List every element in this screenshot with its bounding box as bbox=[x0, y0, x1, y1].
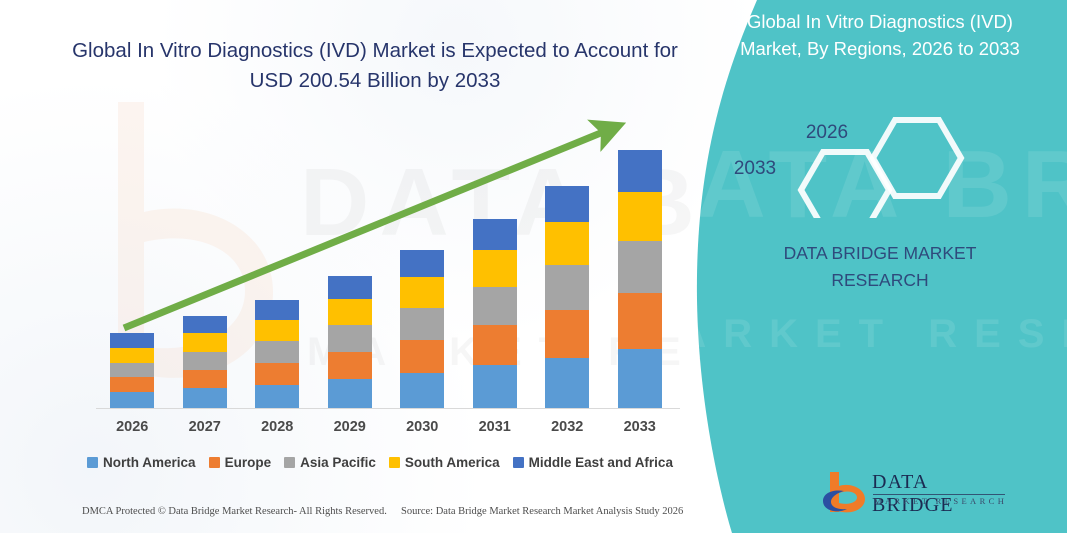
bar-segment-north-america[interactable] bbox=[328, 379, 372, 408]
bar-segment-north-america[interactable] bbox=[545, 358, 589, 408]
hexagon-pair-icon bbox=[785, 98, 1005, 218]
bar-segment-south-america[interactable] bbox=[110, 348, 154, 363]
bar-segment-south-america[interactable] bbox=[473, 250, 517, 287]
legend-label: Asia Pacific bbox=[300, 455, 376, 470]
legend-item-asia-pacific[interactable]: Asia Pacific bbox=[284, 455, 376, 470]
bar-column-2032[interactable] bbox=[545, 185, 589, 408]
x-axis-label-2030: 2030 bbox=[387, 419, 457, 435]
bar-column-2028[interactable] bbox=[255, 300, 299, 408]
panel-watermark-secondary: MARKET RESEARCH bbox=[687, 312, 1067, 357]
logo-tagline: MARKET RESEARCH bbox=[874, 496, 1007, 506]
bar-segment-middle-east-and-africa[interactable] bbox=[255, 300, 299, 320]
legend-swatch-icon bbox=[284, 457, 295, 468]
bar-segment-asia-pacific[interactable] bbox=[255, 341, 299, 363]
bar-segment-asia-pacific[interactable] bbox=[400, 308, 444, 340]
x-axis-label-2028: 2028 bbox=[242, 419, 312, 435]
right-side-panel: DATA BRIDGE MARKET RESEARCH Global In Vi… bbox=[687, 0, 1067, 533]
bar-column-2027[interactable] bbox=[183, 316, 227, 408]
legend-item-europe[interactable]: Europe bbox=[209, 455, 272, 470]
data-bridge-logo: DATA BRIDGE MARKET RESEARCH bbox=[820, 466, 1010, 520]
logo-divider bbox=[873, 494, 1005, 495]
bar-segment-asia-pacific[interactable] bbox=[618, 241, 662, 294]
bar-segment-south-america[interactable] bbox=[255, 320, 299, 341]
x-axis-label-2029: 2029 bbox=[315, 419, 385, 435]
infographic-slide: DATA BRIDGE MARKET RESEARCH Global In Vi… bbox=[0, 0, 1067, 533]
bar-segment-middle-east-and-africa[interactable] bbox=[328, 276, 372, 299]
legend-label: South America bbox=[405, 455, 500, 470]
bar-segment-europe[interactable] bbox=[110, 377, 154, 392]
bar-segment-south-america[interactable] bbox=[400, 277, 444, 308]
bar-segment-north-america[interactable] bbox=[183, 388, 227, 408]
stacked-bar-plot bbox=[96, 118, 676, 408]
legend-swatch-icon bbox=[389, 457, 400, 468]
legend-swatch-icon bbox=[513, 457, 524, 468]
x-axis-label-2032: 2032 bbox=[532, 419, 602, 435]
x-axis-label-2033: 2033 bbox=[605, 419, 675, 435]
logo-mark-icon bbox=[820, 468, 872, 520]
legend-label: Europe bbox=[225, 455, 272, 470]
bar-column-2030[interactable] bbox=[400, 250, 444, 408]
bar-segment-north-america[interactable] bbox=[110, 392, 154, 408]
bar-segment-europe[interactable] bbox=[255, 363, 299, 385]
hex-label-2033: 2033 bbox=[723, 158, 787, 180]
bar-segment-europe[interactable] bbox=[618, 293, 662, 349]
panel-title: Global In Vitro Diagnostics (IVD) Market… bbox=[715, 8, 1045, 62]
bar-segment-asia-pacific[interactable] bbox=[545, 265, 589, 310]
bar-segment-middle-east-and-africa[interactable] bbox=[400, 250, 444, 277]
x-axis-label-2027: 2027 bbox=[170, 419, 240, 435]
bar-segment-europe[interactable] bbox=[473, 325, 517, 365]
bar-segment-europe[interactable] bbox=[400, 340, 444, 373]
bar-segment-europe[interactable] bbox=[545, 310, 589, 358]
bar-segment-north-america[interactable] bbox=[618, 349, 662, 408]
bar-segment-europe[interactable] bbox=[328, 352, 372, 379]
panel-brand-line2: RESEARCH bbox=[831, 270, 928, 290]
bar-segment-north-america[interactable] bbox=[473, 365, 517, 408]
x-axis-labels: 20262027202820292030203120322033 bbox=[96, 419, 676, 441]
hex-label-2026: 2026 bbox=[795, 122, 859, 144]
chart-title: Global In Vitro Diagnostics (IVD) Market… bbox=[60, 36, 690, 96]
bar-segment-south-america[interactable] bbox=[618, 192, 662, 241]
footer-source: Source: Data Bridge Market Research Mark… bbox=[401, 506, 683, 517]
footer: DMCA Protected © Data Bridge Market Rese… bbox=[0, 506, 740, 526]
x-axis-line bbox=[96, 408, 680, 409]
legend-swatch-icon bbox=[87, 457, 98, 468]
legend-label: North America bbox=[103, 455, 196, 470]
x-axis-label-2026: 2026 bbox=[97, 419, 167, 435]
bar-segment-asia-pacific[interactable] bbox=[110, 363, 154, 378]
panel-brand-text: DATA BRIDGE MARKET RESEARCH bbox=[725, 240, 1035, 294]
bar-segment-middle-east-and-africa[interactable] bbox=[183, 316, 227, 333]
bar-segment-middle-east-and-africa[interactable] bbox=[473, 219, 517, 251]
bar-segment-asia-pacific[interactable] bbox=[183, 352, 227, 370]
legend-item-middle-east-and-africa[interactable]: Middle East and Africa bbox=[513, 455, 673, 470]
bar-column-2026[interactable] bbox=[110, 333, 154, 408]
bar-segment-south-america[interactable] bbox=[328, 299, 372, 325]
bar-column-2029[interactable] bbox=[328, 276, 372, 408]
legend-swatch-icon bbox=[209, 457, 220, 468]
bar-segment-north-america[interactable] bbox=[255, 385, 299, 408]
footer-copyright: DMCA Protected © Data Bridge Market Rese… bbox=[82, 506, 387, 517]
legend-item-north-america[interactable]: North America bbox=[87, 455, 196, 470]
bar-segment-south-america[interactable] bbox=[183, 333, 227, 351]
bar-column-2033[interactable] bbox=[618, 150, 662, 408]
legend-item-south-america[interactable]: South America bbox=[389, 455, 500, 470]
legend-label: Middle East and Africa bbox=[529, 455, 673, 470]
bar-segment-middle-east-and-africa[interactable] bbox=[110, 333, 154, 348]
chart-legend: North AmericaEuropeAsia PacificSouth Ame… bbox=[60, 455, 700, 470]
bar-segment-north-america[interactable] bbox=[400, 373, 444, 408]
panel-brand-line1: DATA BRIDGE MARKET bbox=[784, 243, 977, 263]
bar-segment-middle-east-and-africa[interactable] bbox=[545, 186, 589, 223]
bar-column-2031[interactable] bbox=[473, 218, 517, 408]
bar-segment-europe[interactable] bbox=[183, 370, 227, 388]
bar-segment-asia-pacific[interactable] bbox=[473, 287, 517, 325]
x-axis-label-2031: 2031 bbox=[460, 419, 530, 435]
bar-segment-middle-east-and-africa[interactable] bbox=[618, 150, 662, 192]
bar-segment-south-america[interactable] bbox=[545, 222, 589, 265]
bar-segment-asia-pacific[interactable] bbox=[328, 325, 372, 352]
